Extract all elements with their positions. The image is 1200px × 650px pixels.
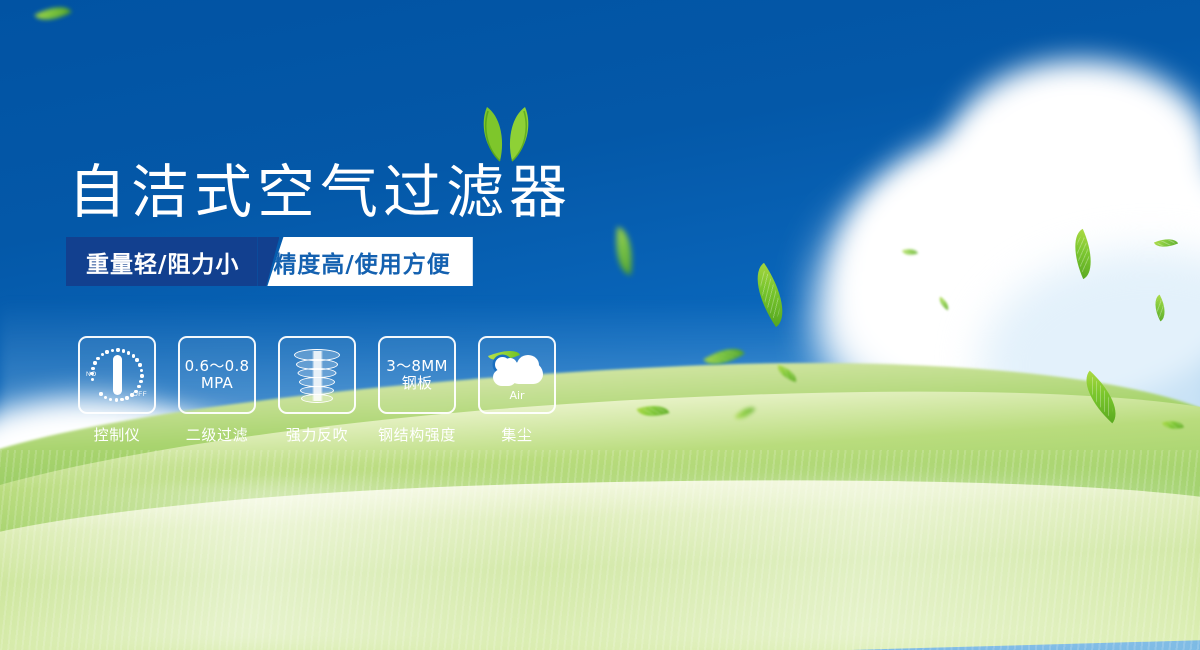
- dial-tick: [104, 396, 107, 399]
- product-banner: 自洁式空气过滤器 重量轻/阻力小 精度高/使用方便 NO OFF 控制仪 0.6…: [0, 0, 1200, 650]
- subtitle-right: 精度高/使用方便: [267, 237, 472, 286]
- coil-ring: [301, 394, 333, 403]
- coil-filter-icon: [292, 347, 342, 403]
- dial-tick: [125, 396, 128, 399]
- dial-needle: [113, 355, 122, 395]
- feature-icon-box: [278, 336, 356, 414]
- feature-icon-box: 0.6〜0.8 MPA: [178, 336, 256, 414]
- feature-item-controller[interactable]: NO OFF 控制仪: [78, 336, 156, 445]
- dial-tick: [105, 350, 108, 353]
- feature-icon-box: NO OFF: [78, 336, 156, 414]
- dial-tick: [120, 398, 123, 401]
- dial-tick: [138, 363, 141, 366]
- feature-label: 集尘: [501, 424, 532, 445]
- feature-label: 钢结构强度: [378, 424, 456, 445]
- pressure-range-line1: 0.6〜0.8: [185, 358, 250, 375]
- dial-tick: [111, 349, 114, 352]
- dial-tick: [137, 385, 140, 388]
- feature-label: 二级过滤: [186, 424, 248, 445]
- dial-gauge-icon: NO OFF: [85, 346, 149, 404]
- dial-tick: [127, 351, 130, 354]
- dial-tick: [91, 367, 94, 370]
- dial-tick: [101, 353, 104, 356]
- feature-icon-box: Air: [478, 336, 556, 414]
- dial-tick: [135, 358, 138, 361]
- subtitle-left: 重量轻/阻力小: [66, 237, 257, 286]
- feature-item-blowback[interactable]: 强力反吹: [278, 336, 356, 445]
- dial-tick: [134, 390, 137, 393]
- dial-tick: [116, 348, 119, 351]
- feature-item-dust[interactable]: Air 集尘: [478, 336, 556, 445]
- feature-icon-box: 3〜8MM 钢板: [378, 336, 456, 414]
- leaf-icon: [611, 227, 637, 275]
- feature-item-filtration[interactable]: 0.6〜0.8 MPA 二级过滤: [178, 336, 256, 445]
- dial-tick: [99, 392, 102, 395]
- air-cloud-icon: Air: [487, 350, 547, 400]
- dial-tick: [140, 369, 143, 372]
- dial-tick: [115, 398, 118, 401]
- dial-tick: [91, 378, 94, 381]
- feature-label: 强力反吹: [286, 424, 348, 445]
- leaf-icon: [34, 0, 71, 28]
- dial-tick: [139, 380, 142, 383]
- dial-tick: [109, 398, 112, 401]
- dial-tick: [93, 361, 96, 364]
- dial-tick: [140, 374, 143, 377]
- subtitle-bar: 重量轻/阻力小 精度高/使用方便: [66, 237, 473, 286]
- page-title: 自洁式空气过滤器: [68, 145, 572, 229]
- steel-material-line2: 钢板: [402, 375, 433, 392]
- cloud-puff-main: [509, 362, 543, 384]
- feature-item-steel[interactable]: 3〜8MM 钢板 钢结构强度: [378, 336, 456, 445]
- feature-list: NO OFF 控制仪 0.6〜0.8 MPA 二级过滤: [78, 336, 556, 445]
- dial-tick: [130, 393, 133, 396]
- dial-tick: [122, 349, 125, 352]
- steel-thickness-line1: 3〜8MM: [386, 358, 447, 375]
- feature-label: 控制仪: [94, 424, 141, 445]
- dial-tick: [96, 357, 99, 360]
- dial-tick: [132, 354, 135, 357]
- air-label: Air: [487, 389, 547, 402]
- pressure-unit-line2: MPA: [201, 375, 233, 392]
